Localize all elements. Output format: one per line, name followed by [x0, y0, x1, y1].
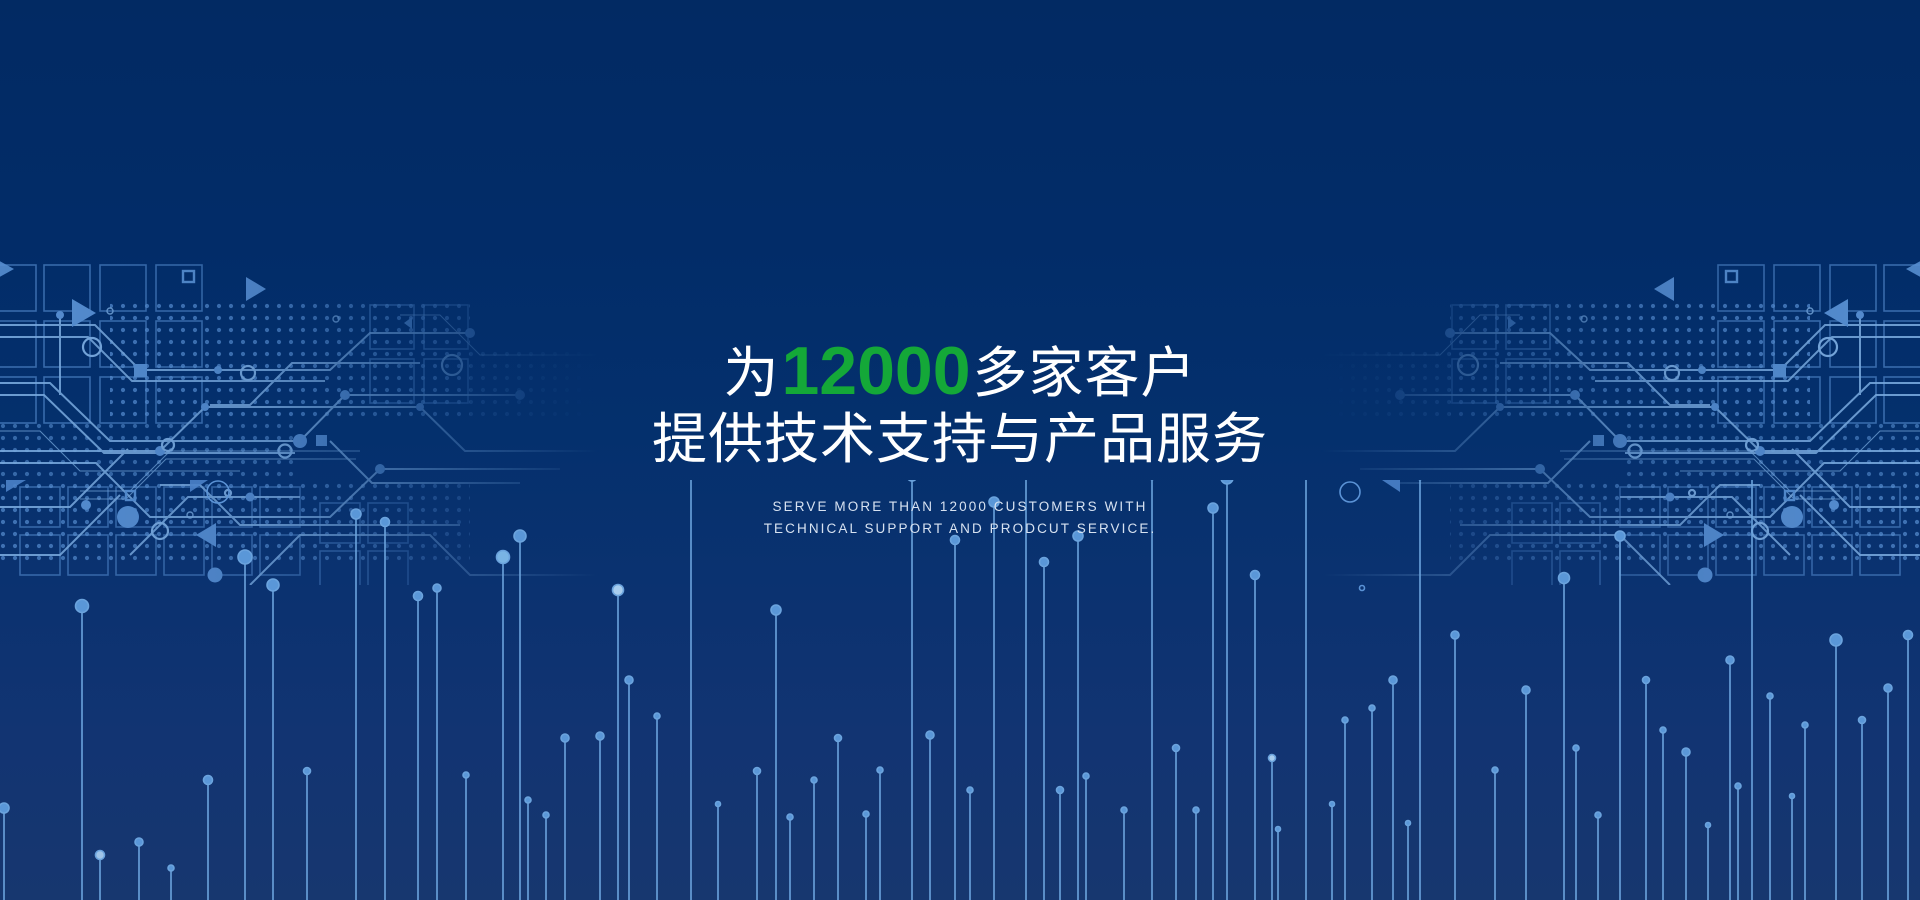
headline-line-2: 提供技术支持与产品服务: [0, 408, 1920, 470]
customer-count: 12000: [779, 333, 972, 409]
banner-subtitle: SERVE MORE THAN 12000 CUSTOMERS WITH TEC…: [0, 496, 1920, 540]
headline-line-1: 为12000多家客户: [0, 340, 1920, 404]
subtitle-line-1: SERVE MORE THAN 12000 CUSTOMERS WITH: [0, 496, 1920, 518]
headline-prefix: 为: [723, 342, 779, 404]
headline-suffix: 多家客户: [973, 342, 1197, 404]
lollipop-pin-graphic: [0, 480, 1920, 900]
hero-banner: 为12000多家客户 提供技术支持与产品服务 SERVE MORE THAN 1…: [0, 0, 1920, 900]
banner-content: 为12000多家客户 提供技术支持与产品服务 SERVE MORE THAN 1…: [0, 340, 1920, 540]
subtitle-line-2: TECHNICAL SUPPORT AND PRODCUT SERVICE.: [0, 518, 1920, 540]
